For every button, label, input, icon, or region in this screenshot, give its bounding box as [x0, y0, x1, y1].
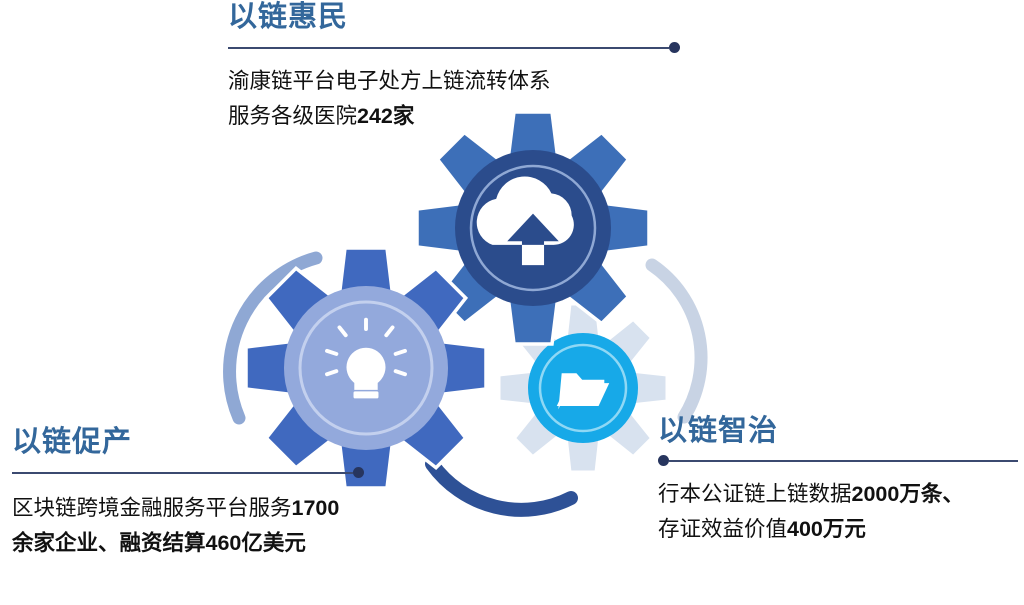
callout-line: 余家企业、融资结算460亿美元 — [12, 526, 364, 561]
cloud-gear-hub — [455, 150, 611, 306]
cloud-gear — [417, 112, 649, 344]
archive-gear-teeth — [499, 304, 667, 472]
right-arc — [652, 265, 701, 417]
cloud-gear-teeth — [417, 112, 649, 344]
rule-line — [12, 472, 353, 474]
callout-line: 服务各级医院242家 — [228, 99, 680, 134]
cloud-gear-ring — [471, 166, 595, 290]
rule-dot — [669, 42, 680, 53]
lightbulb-icon — [327, 320, 405, 399]
cloud-upload-icon — [477, 176, 574, 265]
callout-title-bottom-right: 以链智治 — [658, 416, 1018, 448]
rule-line — [228, 47, 669, 49]
rule-line — [669, 460, 1018, 462]
callout-block-top-left: 以链惠民 渝康链平台电子处方上链流转体系 服务各级医院242家 — [228, 2, 680, 134]
idea-gear-ring — [300, 302, 432, 434]
callout-title-bottom-left: 以链促产 — [12, 427, 364, 459]
callout-line: 渝康链平台电子处方上链流转体系 — [228, 64, 680, 99]
idea-gear-hub — [284, 286, 448, 450]
callout-block-bottom-left: 以链促产 区块链跨境金融服务平台服务1700 余家企业、融资结算460亿美元 — [12, 427, 364, 561]
callout-block-bottom-right: 以链智治 行本公证链上链数据2000万条、 存证效益价值400万元 — [658, 416, 1018, 547]
callout-line: 区块链跨境金融服务平台服务1700 — [12, 491, 364, 526]
callout-rule-bottom-right — [658, 454, 1018, 468]
left-arc — [230, 258, 316, 418]
callout-line: 行本公证链上链数据2000万条、 — [658, 477, 1018, 512]
callout-rule-bottom-left — [12, 466, 364, 480]
infographic-canvas: 以链惠民 渝康链平台电子处方上链流转体系 服务各级医院242家 以链促产 区块链… — [0, 0, 1024, 605]
callout-body-bottom-left: 区块链跨境金融服务平台服务1700 余家企业、融资结算460亿美元 — [12, 491, 364, 561]
callout-body-bottom-right: 行本公证链上链数据2000万条、 存证效益价值400万元 — [658, 477, 1018, 547]
callout-line: 存证效益价值400万元 — [658, 512, 1018, 547]
archive-gear — [499, 304, 667, 472]
callout-rule-top-left — [228, 41, 680, 55]
archive-gear-hub — [528, 333, 638, 443]
callout-body-top-left: 渝康链平台电子处方上链流转体系 服务各级医院242家 — [228, 64, 680, 134]
bottom-arc — [432, 464, 571, 510]
rule-dot — [353, 467, 364, 478]
rule-dot — [658, 455, 669, 466]
folder-icon — [557, 373, 609, 409]
archive-gear-ring — [540, 345, 626, 431]
callout-title-top-left: 以链惠民 — [228, 2, 680, 34]
